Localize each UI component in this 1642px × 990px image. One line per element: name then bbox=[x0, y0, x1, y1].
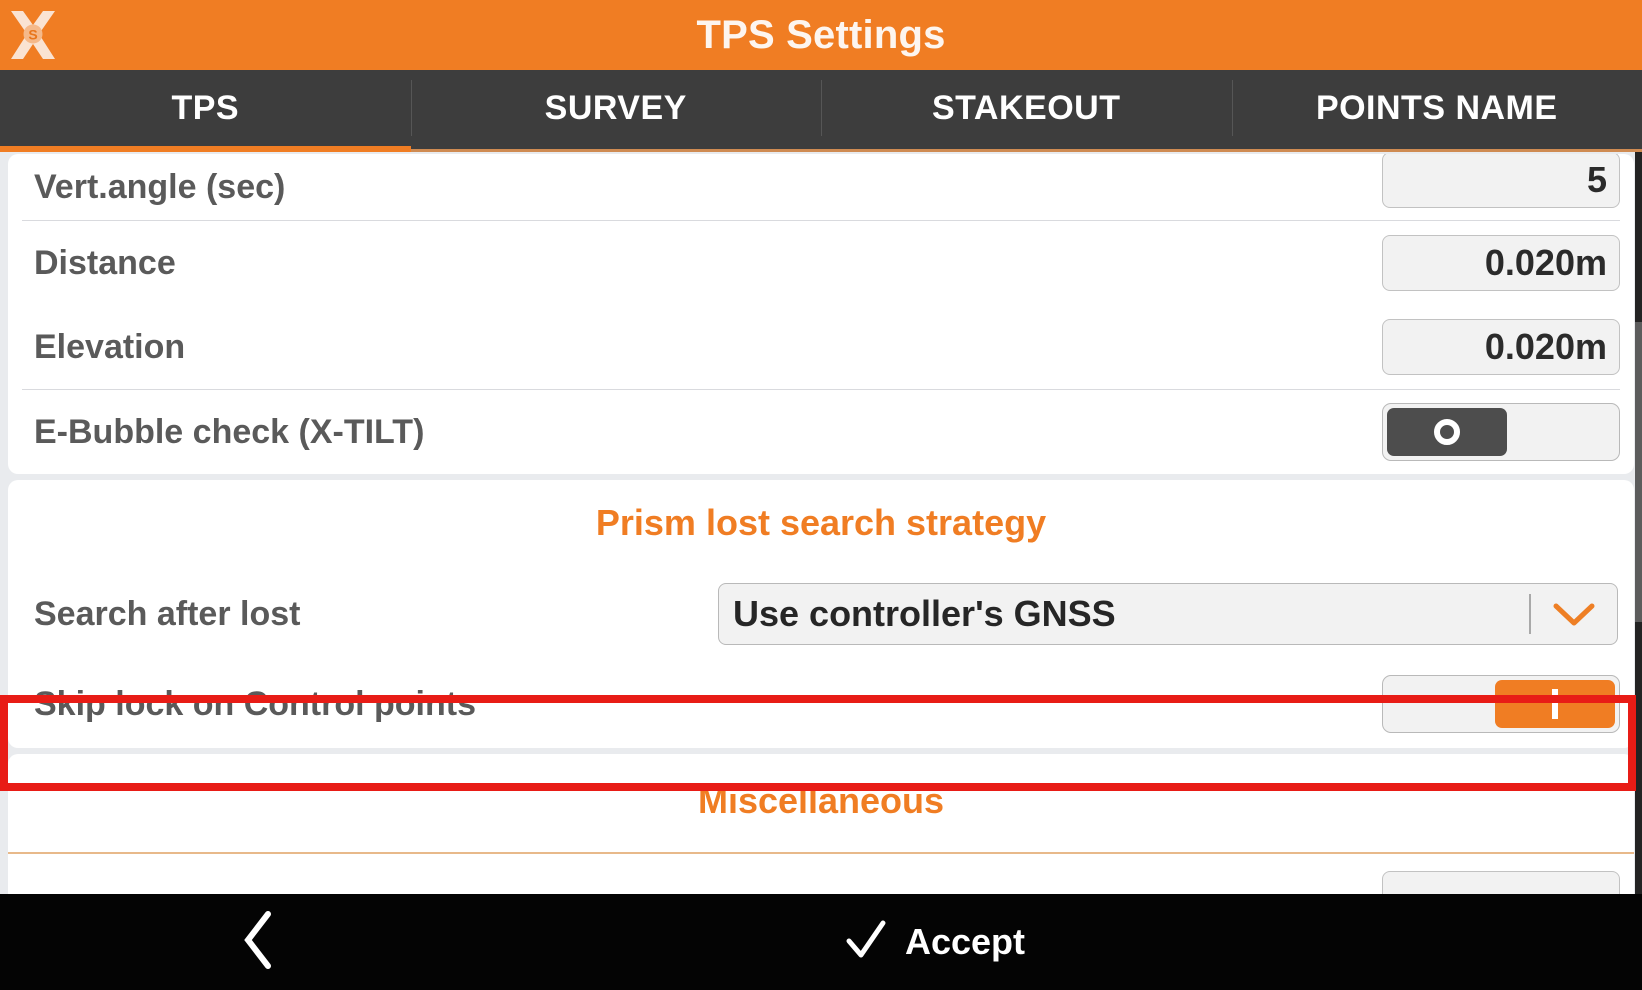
bottom-bar: Accept bbox=[0, 894, 1642, 990]
toggle-knob bbox=[1495, 680, 1615, 728]
title-bar: S TPS Settings bbox=[0, 0, 1642, 70]
row-vert-angle-label: Vert.angle (sec) bbox=[34, 168, 285, 207]
tab-survey-label: SURVEY bbox=[545, 89, 687, 128]
bar-i-icon bbox=[1552, 689, 1558, 719]
row-skip-lock-control-points[interactable]: Skip lock on Control points bbox=[8, 660, 1634, 748]
row-skip-lock-control-points-label: Skip lock on Control points bbox=[34, 685, 476, 724]
tolerances-card: Vert.angle (sec) 5 Distance 0.020m Eleva… bbox=[8, 154, 1634, 474]
row-vert-angle[interactable]: Vert.angle (sec) 5 bbox=[8, 154, 1634, 220]
row-distance-label: Distance bbox=[34, 244, 176, 283]
checkmark-icon bbox=[843, 917, 889, 968]
tab-stakeout-label: STAKEOUT bbox=[932, 89, 1120, 128]
ebubble-check-toggle[interactable] bbox=[1382, 403, 1620, 461]
tab-stakeout[interactable]: STAKEOUT bbox=[821, 70, 1232, 152]
accept-button[interactable]: Accept bbox=[113, 894, 1642, 990]
tab-tps[interactable]: TPS bbox=[0, 70, 411, 152]
settings-scroll-area[interactable]: Vert.angle (sec) 5 Distance 0.020m Eleva… bbox=[0, 152, 1642, 894]
chevron-down-icon[interactable] bbox=[1531, 599, 1617, 629]
tab-bar: TPS SURVEY STAKEOUT POINTS NAME bbox=[0, 70, 1642, 152]
clipped-value-box[interactable] bbox=[1382, 871, 1620, 894]
scrollbar-thumb[interactable] bbox=[1635, 322, 1642, 622]
row-search-after-lost[interactable]: Search after lost Use controller's GNSS bbox=[8, 568, 1634, 660]
row-search-after-lost-label: Search after lost bbox=[34, 595, 300, 634]
tps-settings-screen: S TPS Settings TPS SURVEY STAKEOUT POINT… bbox=[0, 0, 1642, 990]
prism-lost-search-strategy-card: Prism lost search strategy Search after … bbox=[8, 480, 1634, 748]
search-after-lost-value: Use controller's GNSS bbox=[733, 593, 1529, 635]
row-ebubble-check-label: E-Bubble check (X-TILT) bbox=[34, 413, 424, 452]
accept-button-label: Accept bbox=[905, 921, 1025, 963]
elevation-value[interactable]: 0.020m bbox=[1382, 319, 1620, 375]
row-elevation[interactable]: Elevation 0.020m bbox=[8, 305, 1634, 389]
row-elevation-label: Elevation bbox=[34, 328, 185, 367]
circle-o-icon bbox=[1434, 419, 1460, 445]
row-ebubble-check[interactable]: E-Bubble check (X-TILT) bbox=[8, 390, 1634, 474]
search-after-lost-dropdown[interactable]: Use controller's GNSS bbox=[718, 583, 1618, 645]
miscellaneous-header: Miscellaneous bbox=[8, 754, 1634, 852]
tab-tps-label: TPS bbox=[171, 89, 239, 128]
vert-angle-value[interactable]: 5 bbox=[1382, 154, 1620, 208]
prism-lost-search-strategy-header: Prism lost search strategy bbox=[8, 480, 1634, 568]
miscellaneous-card: Miscellaneous bbox=[8, 754, 1634, 894]
row-clipped[interactable] bbox=[8, 854, 1634, 894]
distance-value[interactable]: 0.020m bbox=[1382, 235, 1620, 291]
row-distance[interactable]: Distance 0.020m bbox=[8, 221, 1634, 305]
toggle-knob bbox=[1387, 408, 1507, 456]
skip-lock-control-points-toggle[interactable] bbox=[1382, 675, 1620, 733]
page-title: TPS Settings bbox=[0, 13, 1642, 58]
vertical-scrollbar[interactable] bbox=[1635, 152, 1642, 894]
tab-points-name[interactable]: POINTS NAME bbox=[1232, 70, 1642, 152]
tab-points-name-label: POINTS NAME bbox=[1316, 89, 1558, 128]
tab-survey[interactable]: SURVEY bbox=[411, 70, 822, 152]
